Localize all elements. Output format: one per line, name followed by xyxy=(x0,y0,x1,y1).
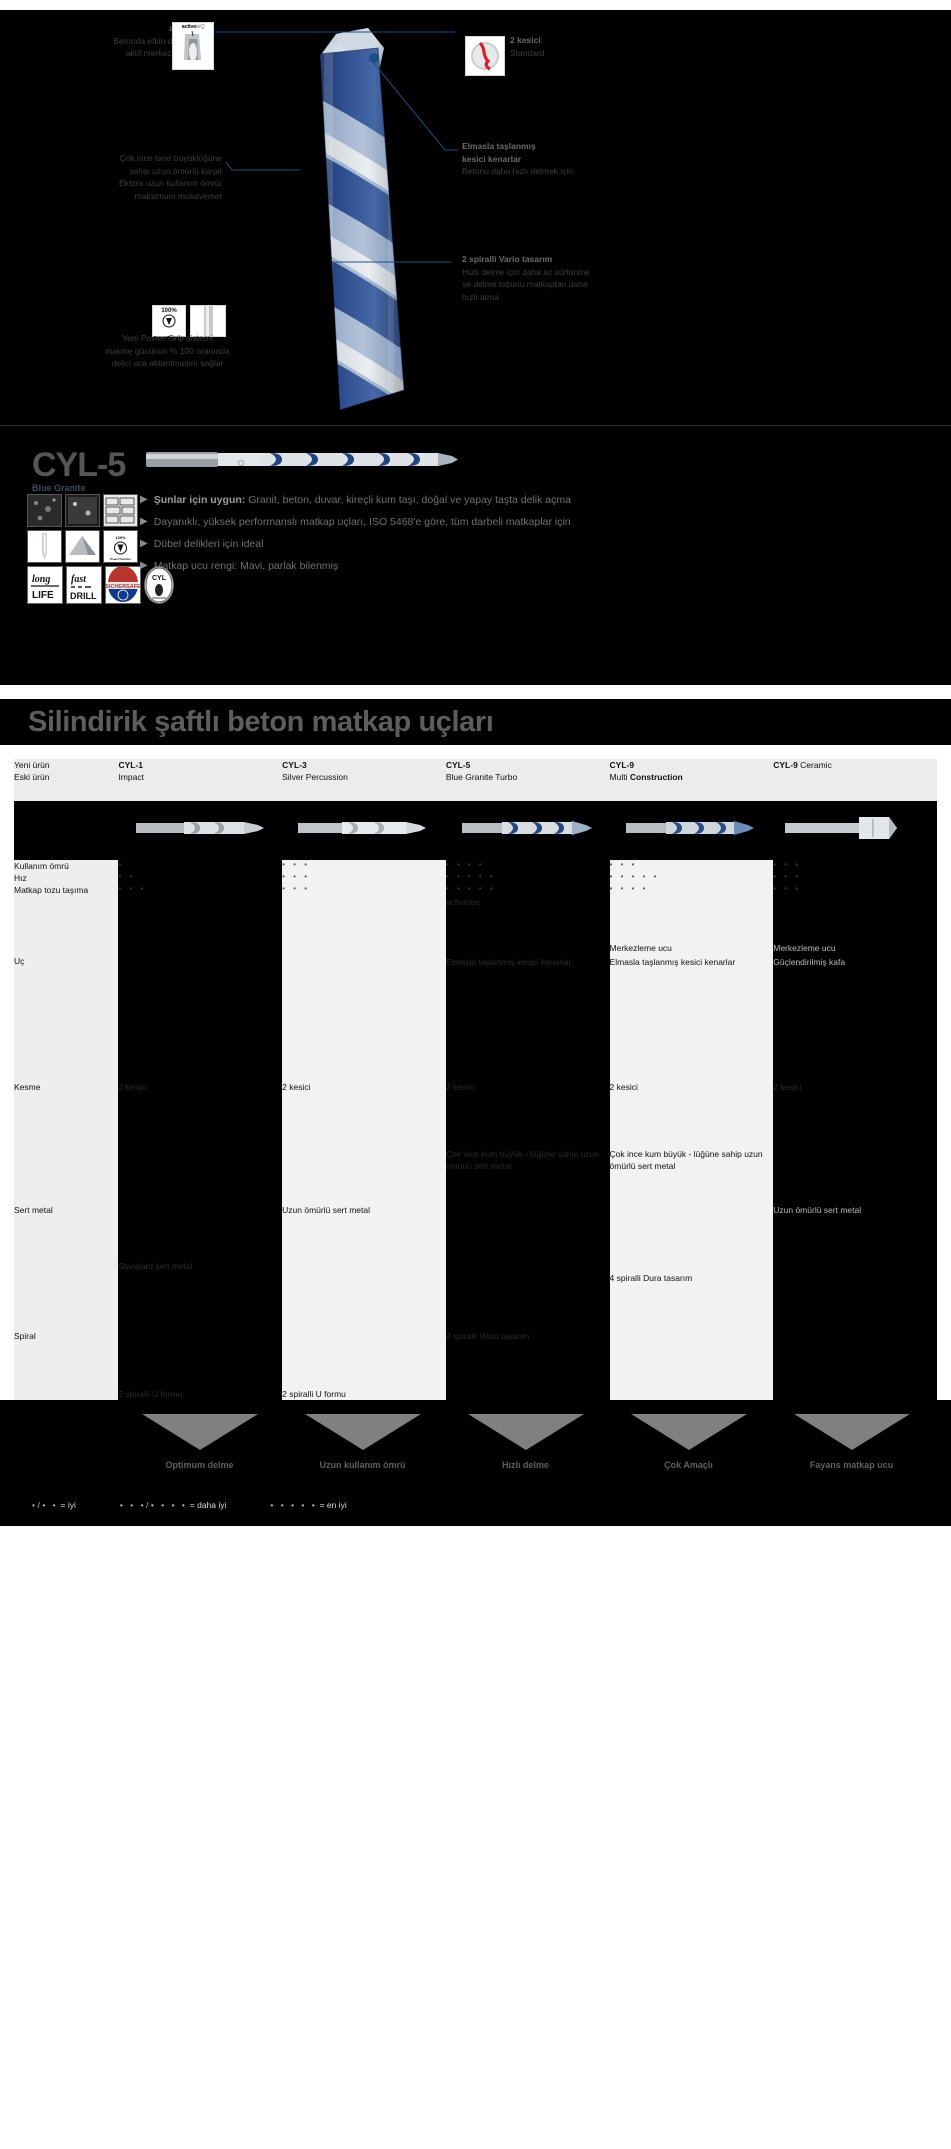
tip-bottom-text: Güçlendirilmiş kafa xyxy=(773,956,937,968)
summary-label-cyl9: Çok Amaçlı xyxy=(664,1460,713,1470)
header-cyl3-old: Silver Percussion xyxy=(282,771,446,783)
callout-carbide-line-3: Ekstra uzun kullanım ömrü/ xyxy=(42,177,222,190)
cell-spiral-cyl9c xyxy=(773,1272,937,1400)
summary-label-cyl3: Uzun kullanım ömrü xyxy=(319,1460,405,1470)
cell-dust-cyl1: • • • xyxy=(118,884,282,896)
summary-label-cyl5: Hızlı delme xyxy=(502,1460,549,1470)
header-cyl9-new: CYL-9 xyxy=(610,759,774,771)
cell-service-life-cyl9: • • • xyxy=(610,860,774,872)
cell-tip-cyl9: Merkezleme ucu Elmasla taşlanmış kesici … xyxy=(610,896,774,1026)
cell-spiral-cyl3: 2 spiralli U formu xyxy=(282,1272,446,1400)
carbide-text: Uzun ömürlü sert metal xyxy=(282,1204,446,1216)
comparison-table: Yeni ürün Eski ürün CYL-1 Impact CYL-3 S… xyxy=(14,759,937,1400)
cell-spiral-cyl1: 2 spiralli U formu xyxy=(118,1272,282,1400)
spiral-text: 4 spiralli Dura tasarım xyxy=(610,1272,774,1284)
tip-bottom-text: Elmasla taşlanmış kesici kenarlar xyxy=(446,956,610,968)
callout-vario-design: 2 spiralli Vario tasarım Hızlı delme içi… xyxy=(462,253,712,303)
title-bottom-gap xyxy=(0,745,951,759)
row-label-service-life: Kullanım ömrü xyxy=(14,860,118,872)
callout-power-grip-line-1: Yeni Power-Grip sistemi xyxy=(75,332,260,345)
header-cyl9-old-plain: Multi xyxy=(610,772,630,782)
comparison-table-wrapper: Yeni ürün Eski ürün CYL-1 Impact CYL-3 S… xyxy=(0,759,951,1400)
callout-vario-design-line-3: hızlı atma xyxy=(462,291,712,304)
svg-text:SICHERSAFE: SICHERSAFE xyxy=(106,584,140,590)
rating-dots: • • • xyxy=(282,872,446,881)
brand-section: CYL-5 Blue Granite xyxy=(0,425,951,685)
two-cutter-icon xyxy=(466,37,504,75)
cell-service-life-cyl5: • • • • xyxy=(446,860,610,872)
badge-granite xyxy=(65,494,100,527)
legend-text-best: = en iyi xyxy=(320,1500,347,1510)
feature-bullet-item: ▶ Dayanıklı, yüksek performanslı matkap … xyxy=(140,516,930,529)
product-photo-cyl1 xyxy=(118,801,278,855)
feature-bullet-text: Matkap ucu rengi: Mavi, parlak bilenmiş xyxy=(154,560,338,573)
badge-power-transfer-small: 100% PowerTransfer xyxy=(103,530,138,563)
product-image-cell-cyl1 xyxy=(118,801,282,860)
cyl5-logo: CYL-5 Blue Granite xyxy=(32,448,125,493)
cell-dust-cyl9c: • • • xyxy=(773,884,937,896)
tip-top-text: Merkezleme ucu xyxy=(610,896,774,956)
header-new-product: Yeni ürün xyxy=(14,759,118,771)
row-label-dust-removal: Matkap tozu taşıma xyxy=(14,884,118,896)
header-cyl3-new: CYL-3 xyxy=(282,759,446,771)
header-old-product: Eski ürün xyxy=(14,771,118,783)
cell-spiral-cyl9: 4 spiralli Dura tasarım xyxy=(610,1272,774,1400)
header-cyl9-old-bold: Construction xyxy=(630,772,683,782)
legend-item-best: • • • • • = en iyi xyxy=(270,1500,346,1510)
table-row: Matkap tozu taşıma • • • • • • • • • • •… xyxy=(14,884,937,896)
cell-service-life-cyl3: • • • xyxy=(282,860,446,872)
cutting-text: 2 kesici xyxy=(446,1081,610,1093)
cell-dust-cyl3: • • • xyxy=(282,884,446,896)
cell-tip-cyl9c: Merkezleme ucu Güçlendirilmiş kafa xyxy=(773,896,937,1026)
product-image-cell-cyl3 xyxy=(282,801,446,860)
power-transfer-icon xyxy=(153,314,185,330)
product-photo-cyl3 xyxy=(282,801,442,855)
page-title: Silindirik şaftlı beton matkap uçları xyxy=(0,706,493,739)
rating-dots: • • • xyxy=(773,884,937,893)
brand-drill-image xyxy=(146,444,466,479)
rating-dots: • • • • xyxy=(610,884,774,893)
spiral-text: 2 spiralli U formu xyxy=(282,1388,446,1400)
row-label-tip: Uç xyxy=(14,896,118,1026)
product-image-cell-cyl9-ceramic xyxy=(773,801,937,860)
legend-item-good: •/• • = iyi xyxy=(32,1500,76,1510)
header-cyl1-new: CYL-1 xyxy=(118,759,282,771)
rating-dots: • • xyxy=(118,872,282,881)
cell-service-life-cyl1: • xyxy=(118,860,282,872)
cell-cutting-cyl1: 2 kesici xyxy=(118,1026,282,1148)
triangle-bullet-icon: ▶ xyxy=(140,516,148,528)
header-cyl5-new: CYL-5 xyxy=(446,759,610,771)
summary-section: Optimum delme Uzun kullanım ömrü Hızlı d… xyxy=(0,1400,951,1526)
cell-speed-cyl9: • • • • • xyxy=(610,872,774,884)
activeteq-bit-photo xyxy=(173,30,213,64)
feature-bullet-item: ▶ Dübel delikleri için ideal xyxy=(140,538,930,551)
cell-speed-cyl3: • • • xyxy=(282,872,446,884)
callout-two-cutter-line-1: Standard xyxy=(510,47,710,60)
legend-item-better: • • •/• • • • = daha iyi xyxy=(120,1500,227,1510)
rating-dots: • • • • • xyxy=(446,872,610,881)
badge-power-transfer-percent: 100% xyxy=(153,306,185,314)
cell-cutting-cyl9c: 2 kesici xyxy=(773,1026,937,1148)
hero-section: activeteq Betonda etkin delme için aktif… xyxy=(0,10,951,425)
triangle-bullet-icon: ▶ xyxy=(140,538,148,550)
summary-arrow-cyl1: Optimum delme xyxy=(118,1414,281,1470)
rating-dots: • • • • xyxy=(446,860,610,869)
callout-power-grip-line-2: makine gücünün % 100 oranında xyxy=(75,345,260,358)
cutting-text: 2 kesici xyxy=(118,1081,282,1093)
cell-carbide-cyl1: Standard sert metal xyxy=(118,1148,282,1272)
cell-speed-cyl1: • • xyxy=(118,872,282,884)
feature-bullet-lead: Şunlar için uygun: xyxy=(154,494,246,506)
carbide-text: Uzun ömürlü sert metal xyxy=(773,1204,937,1216)
rating-dots: • • • • • xyxy=(446,884,610,893)
spiral-text: 2 spiralli U formu xyxy=(118,1388,282,1400)
header-cyl5-old: Blue Granite Turbo xyxy=(446,771,610,783)
legend-dots-good: •/• • xyxy=(32,1500,58,1510)
tip-top-text xyxy=(118,896,282,956)
spiral-text: 2 spiralli Vario tasarım xyxy=(446,1330,610,1342)
feature-bullet-rest: Granit, beton, duvar, kireçli kum taşı, … xyxy=(245,494,571,506)
summary-label-cyl1: Optimum delme xyxy=(165,1460,233,1470)
page-title-band: Silindirik şaftlı beton matkap uçları xyxy=(0,699,951,745)
product-photo-cyl9 xyxy=(610,801,770,855)
badge-drill-bit xyxy=(27,530,62,563)
legend-dots-best: • • • • • xyxy=(270,1500,317,1510)
summary-arrows: Optimum delme Uzun kullanım ömrü Hızlı d… xyxy=(14,1400,937,1470)
legend-text-better: = daha iyi xyxy=(190,1500,227,1510)
svg-text:PowerTransfer: PowerTransfer xyxy=(110,557,132,561)
logo-long-life: long LIFE xyxy=(27,566,63,604)
table-header-cell-cyl3: CYL-3 Silver Percussion xyxy=(282,759,446,801)
rating-dots: • xyxy=(118,860,282,869)
carbide-text: Çok ince kum büyük - lüğüne sahip uzun ö… xyxy=(610,1148,774,1172)
table-header-cell-cyl9-ceramic: CYL-9 Ceramic xyxy=(773,759,937,801)
legend-dots-better: • • •/• • • • xyxy=(120,1500,188,1510)
cell-speed-cyl9c: • • • xyxy=(773,872,937,884)
down-arrow-icon xyxy=(305,1414,421,1450)
cell-carbide-cyl9c: Uzun ömürlü sert metal xyxy=(773,1148,937,1272)
rating-dots: • • • xyxy=(773,860,937,869)
product-image-cell-empty xyxy=(14,801,118,860)
section-divider-white xyxy=(0,685,951,699)
cell-carbide-cyl9: Çok ince kum büyük - lüğüne sahip uzun ö… xyxy=(610,1148,774,1272)
callout-power-grip-line-3: delici uca aktarılmasını sağlar xyxy=(75,357,260,370)
header-cyl9c-new: CYL-9 Ceramic xyxy=(773,759,937,771)
callout-diamond-ground: Elmasla taşlanmış kesici kenarlar Betonu… xyxy=(462,140,692,178)
tip-top-text: activeteq xyxy=(446,896,610,956)
cell-cutting-cyl5: 2 kesici xyxy=(446,1026,610,1148)
table-header-cell-cyl5: CYL-5 Blue Granite Turbo xyxy=(446,759,610,801)
row-label-cutting: Kesme xyxy=(14,1026,118,1148)
cyl5-logo-sub: Blue Granite xyxy=(32,483,125,493)
summary-arrow-cyl5: Hızlı delme xyxy=(444,1414,607,1470)
callout-vario-design-title: 2 spiralli Vario tasarım xyxy=(462,253,712,266)
cutting-text: 2 kesici xyxy=(773,1081,937,1093)
cell-spiral-cyl5: 2 spiralli Vario tasarım xyxy=(446,1272,610,1400)
rating-dots: • • • xyxy=(282,860,446,869)
tip-top-text xyxy=(282,896,446,956)
summary-label-cyl9-ceramic: Fayans matkap ucu xyxy=(810,1460,894,1470)
table-header-cell-row-labels: Yeni ürün Eski ürün xyxy=(14,759,118,801)
product-photo-cyl5 xyxy=(446,801,606,855)
cutting-text: 2 kesici xyxy=(282,1081,446,1093)
summary-arrow-cyl9-ceramic: Fayans matkap ucu xyxy=(770,1414,933,1470)
application-badges: 100% PowerTransfer xyxy=(27,494,138,566)
svg-text:fast: fast xyxy=(71,574,87,585)
thumbnail-activeteq-label: activeteQ xyxy=(173,23,213,30)
cell-tip-cyl5: activeteq Elmasla taşlanmış kesici kenar… xyxy=(446,896,610,1026)
table-header-cell-cyl1: CYL-1 Impact xyxy=(118,759,282,801)
callout-carbide-line-4: maksimum mukavemet xyxy=(42,190,222,203)
callout-carbide-line-2: sahip uzun ömürlü karpit xyxy=(42,165,222,178)
down-arrow-icon xyxy=(631,1414,747,1450)
feature-bullet-text: Dübel delikleri için ideal xyxy=(154,538,264,551)
cell-cutting-cyl9: 2 kesici xyxy=(610,1026,774,1148)
header-cyl9c-code: CYL-9 xyxy=(773,760,800,770)
rating-dots: • • • xyxy=(773,872,937,881)
table-row: Kesme 2 kesici 2 kesici 2 kesici 2 kesic… xyxy=(14,1026,937,1148)
callout-diamond-ground-line-1: kesici kenarlar xyxy=(462,153,692,166)
down-arrow-icon xyxy=(142,1414,258,1450)
badge-natural-stone xyxy=(65,530,100,563)
table-header-row: Yeni ürün Eski ürün CYL-1 Impact CYL-3 S… xyxy=(14,759,937,801)
tip-bottom-text: Elmasla taşlanmış kesici kenarlar xyxy=(610,956,774,968)
row-label-speed: Hız xyxy=(14,872,118,884)
product-photo-cyl9-ceramic xyxy=(773,801,933,855)
feature-bullet-item: ▶ Şunlar için uygun: Granit, beton, duva… xyxy=(140,494,930,507)
carbide-text: Çok ince kum büyük - lüğüne sahip uzun ö… xyxy=(446,1148,610,1172)
svg-text:DRILL: DRILL xyxy=(70,591,97,601)
product-image-cell-cyl9 xyxy=(610,801,774,860)
cell-carbide-cyl5: Çok ince kum büyük - lüğüne sahip uzun ö… xyxy=(446,1148,610,1272)
callout-vario-design-line-2: ve delme tozunu matkaptan daha xyxy=(462,278,712,291)
feature-bullet-text: Şunlar için uygun: Granit, beton, duvar,… xyxy=(154,494,571,507)
rating-legend: •/• • = iyi • • •/• • • • = daha iyi • •… xyxy=(14,1470,937,1526)
table-header-cell-cyl9: CYL-9 Multi Construction xyxy=(610,759,774,801)
carbide-text: Standard sert metal xyxy=(118,1260,282,1272)
table-row: Spiral 2 spiralli U formu 2 spiralli U f… xyxy=(14,1272,937,1400)
application-badge-row-1 xyxy=(27,494,138,527)
table-row: Hız • • • • • • • • • • • • • • • • • • xyxy=(14,872,937,884)
down-arrow-icon xyxy=(468,1414,584,1450)
cell-dust-cyl9: • • • • xyxy=(610,884,774,896)
cell-speed-cyl5: • • • • • xyxy=(446,872,610,884)
row-label-spiral: Spiral xyxy=(14,1272,118,1400)
callout-two-cutter-title: 2 kesici xyxy=(510,34,710,47)
rating-dots: • • • xyxy=(282,884,446,893)
svg-text:long: long xyxy=(32,574,50,585)
table-row: Sert metal Standard sert metal Uzun ömür… xyxy=(14,1148,937,1272)
badge-brick-wall xyxy=(103,494,138,527)
rating-dots: • • • xyxy=(610,860,774,869)
callout-vario-design-line-1: Hızlı delme için daha az sürtünme xyxy=(462,266,712,279)
svg-text:100%: 100% xyxy=(115,535,126,540)
page-footer xyxy=(0,1526,951,1586)
application-badge-row-2: 100% PowerTransfer xyxy=(27,530,138,563)
callout-two-cutter: 2 kesici Standard xyxy=(510,34,710,59)
logo-sichersafe: SICHERSAFE xyxy=(105,566,141,604)
badge-concrete xyxy=(27,494,62,527)
header-cyl9c-variant: Ceramic xyxy=(800,760,832,770)
thumbnail-activeteq: activeteQ xyxy=(172,22,214,70)
cell-cutting-cyl3: 2 kesici xyxy=(282,1026,446,1148)
feature-bullet-list: ▶ Şunlar için uygun: Granit, beton, duva… xyxy=(140,494,930,582)
callout-power-grip: Yeni Power-Grip sistemi makine gücünün %… xyxy=(75,332,260,370)
cell-dust-cyl5: • • • • • xyxy=(446,884,610,896)
callout-diamond-ground-line-2: Betonu daha hızlı delmek için xyxy=(462,165,692,178)
triangle-bullet-icon: ▶ xyxy=(140,560,148,572)
row-label-carbide: Sert metal xyxy=(14,1148,118,1272)
cutting-text: 2 kesici xyxy=(610,1081,774,1093)
tip-top-text: Merkezleme ucu xyxy=(773,896,937,956)
legend-text-good: = iyi xyxy=(61,1500,76,1510)
cell-service-life-cyl9c: • • • xyxy=(773,860,937,872)
summary-arrow-cyl9: Çok Amaçlı xyxy=(607,1414,770,1470)
logo-fast-drill: fast DRILL xyxy=(66,566,102,604)
triangle-bullet-icon: ▶ xyxy=(140,494,148,506)
svg-text:LIFE: LIFE xyxy=(32,590,54,601)
table-row: Kullanım ömrü • • • • • • • • • • • • • … xyxy=(14,860,937,872)
feature-bullet-text: Dayanıklı, yüksek performanslı matkap uç… xyxy=(154,516,571,529)
callout-carbide: Çok ince tane büyüklüğüne sahip uzun ömü… xyxy=(42,152,222,202)
callout-carbide-line-1: Çok ince tane büyüklüğüne xyxy=(42,152,222,165)
callout-diamond-ground-title: Elmasla taşlanmış xyxy=(462,140,692,153)
down-arrow-icon xyxy=(794,1414,910,1450)
rating-dots: • • • • • xyxy=(610,872,774,881)
table-product-image-row xyxy=(14,801,937,860)
header-cyl9-old: Multi Construction xyxy=(610,771,774,783)
feature-bullet-item: ▶ Matkap ucu rengi: Mavi, parlak bilenmi… xyxy=(140,560,930,573)
table-row: Uç activeteq Elmasla taşlanmış kesici ke… xyxy=(14,896,937,1026)
cyl5-logo-main: CYL-5 xyxy=(32,448,125,482)
product-datasheet-page: activeteq Betonda etkin delme için aktif… xyxy=(0,0,951,2149)
thumbnail-2-cutter xyxy=(465,36,505,76)
cell-tip-cyl1 xyxy=(118,896,282,1026)
cell-carbide-cyl3: Uzun ömürlü sert metal xyxy=(282,1148,446,1272)
cell-tip-cyl3 xyxy=(282,896,446,1026)
summary-arrow-cyl3: Uzun kullanım ömrü xyxy=(281,1414,444,1470)
header-cyl1-old: Impact xyxy=(118,771,282,783)
rating-dots: • • • xyxy=(118,884,282,893)
product-image-cell-cyl5 xyxy=(446,801,610,860)
